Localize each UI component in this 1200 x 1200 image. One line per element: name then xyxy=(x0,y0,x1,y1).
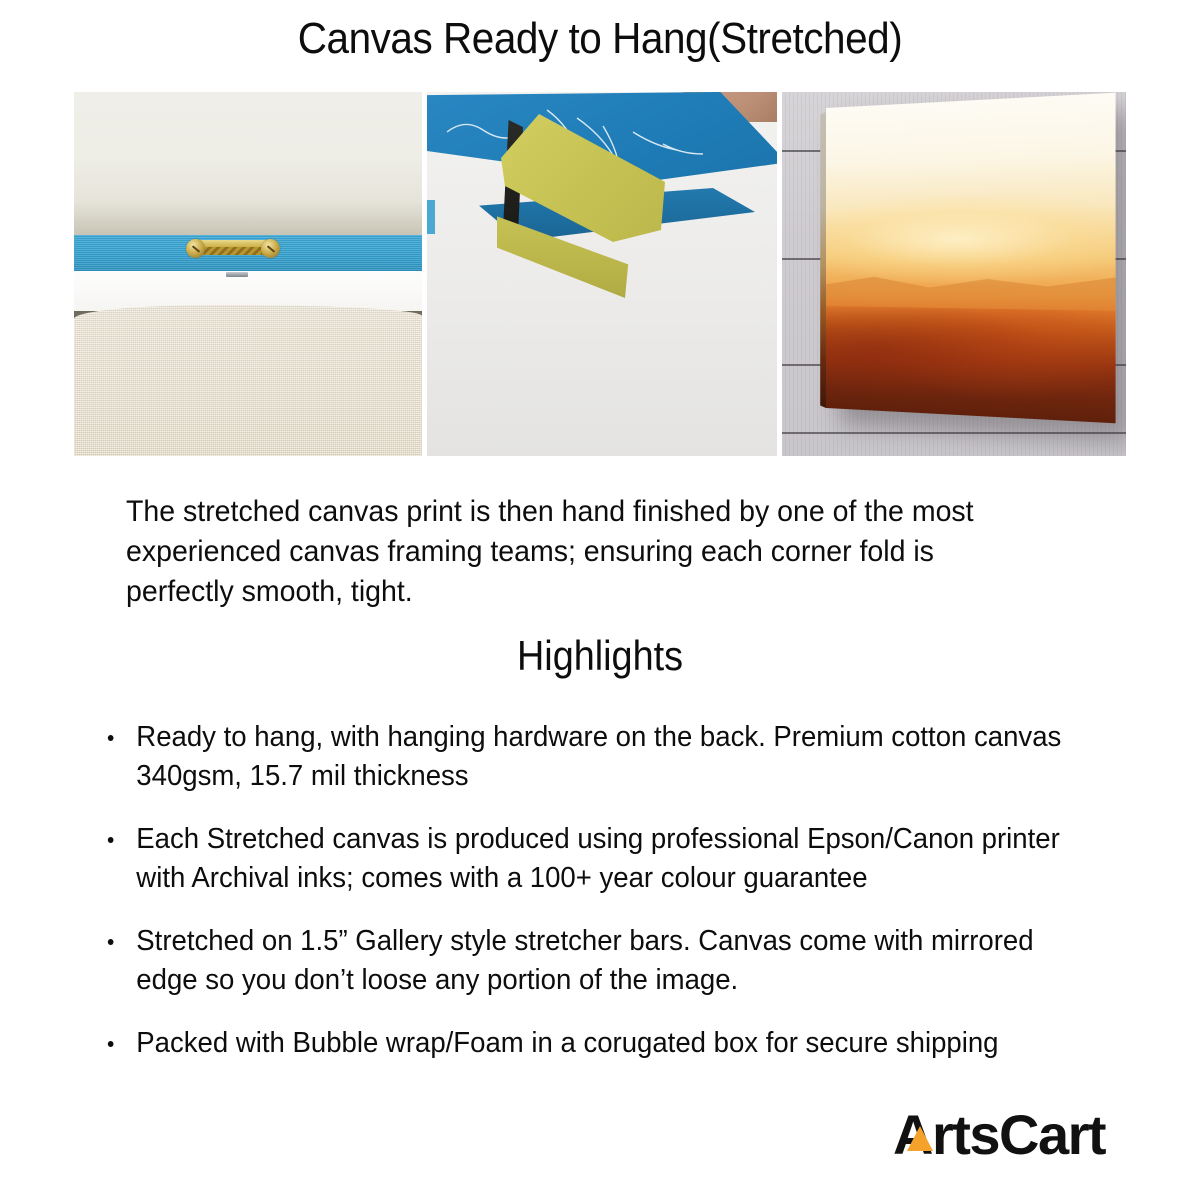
hanger-screw-left xyxy=(186,239,205,258)
sawtooth-hanger-icon xyxy=(186,239,280,259)
hanger-screw-right xyxy=(261,239,280,258)
gallery-image-canvas-back-hanger xyxy=(74,92,422,456)
sun-haze xyxy=(826,191,1116,285)
page-title: Canvas Ready to Hang(Stretched) xyxy=(48,14,1152,64)
landscape-foreground xyxy=(826,306,1116,423)
gallery-image-canvas-on-wall xyxy=(782,92,1126,456)
list-item: Stretched on 1.5” Gallery style stretche… xyxy=(104,922,1064,1000)
artscart-logo: ArtsCart xyxy=(893,1104,1105,1166)
list-item: Ready to hang, with hanging hardware on … xyxy=(104,718,1064,796)
list-item: Each Stretched canvas is produced using … xyxy=(104,820,1064,898)
intro-paragraph: The stretched canvas print is then hand … xyxy=(126,492,1029,612)
hanger-clip xyxy=(226,272,248,277)
product-image-gallery xyxy=(74,92,1126,456)
hanging-canvas-print xyxy=(826,93,1116,424)
cotton-canvas-surface xyxy=(74,305,422,456)
sunset-landscape-artwork xyxy=(826,93,1116,424)
highlights-list: Ready to hang, with hanging hardware on … xyxy=(104,718,1114,1087)
highlights-heading: Highlights xyxy=(60,632,1140,680)
list-item: Packed with Bubble wrap/Foam in a coruga… xyxy=(104,1024,1064,1063)
triangle-icon xyxy=(907,1126,933,1151)
gallery-image-corner-fold-detail xyxy=(427,92,777,456)
plank-seam xyxy=(782,432,1126,434)
hanger-teeth xyxy=(204,247,262,255)
